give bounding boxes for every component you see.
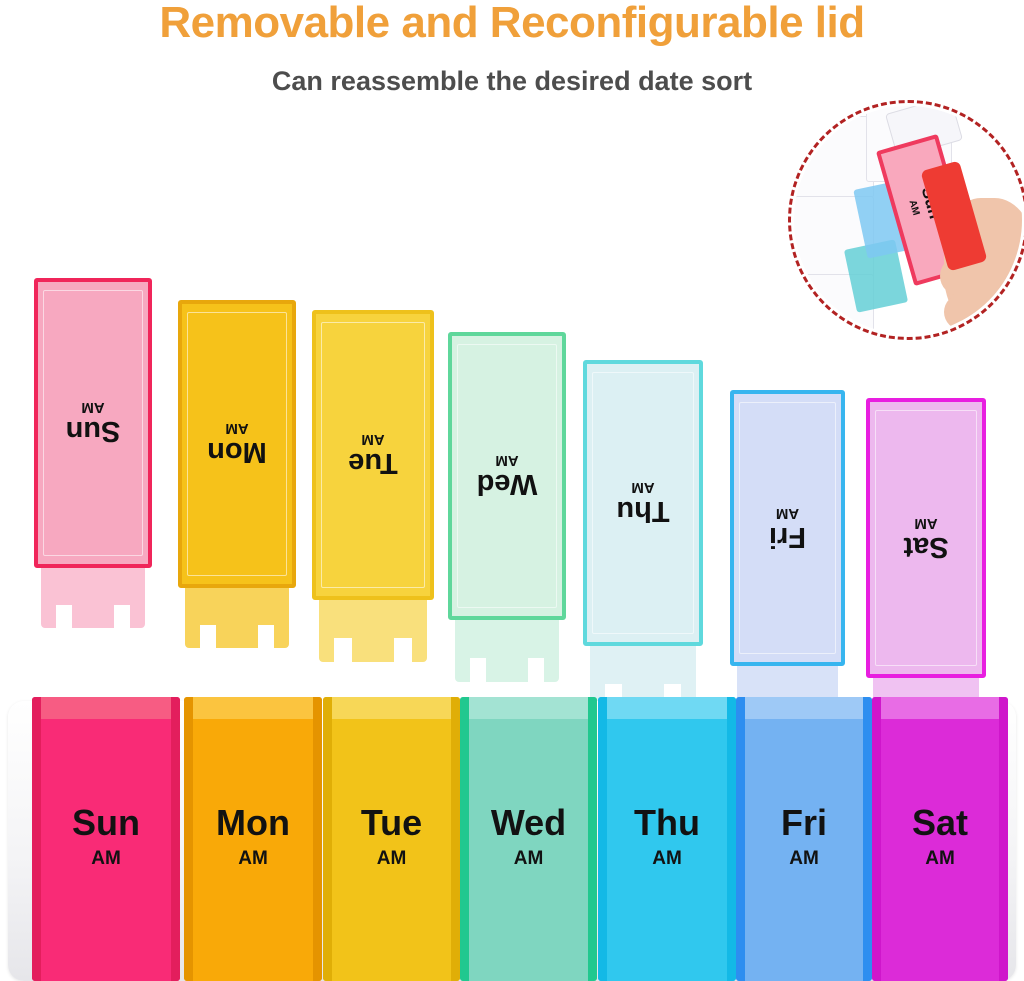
lid-label: SunAM	[34, 400, 152, 445]
cell-label: ThuAM	[598, 805, 736, 868]
cell-ampm-label: AM	[736, 849, 872, 868]
lid-foot	[319, 592, 426, 662]
cell-day-label: Mon	[184, 805, 322, 841]
lid-foot	[455, 612, 559, 682]
inset-dashed-ring	[788, 100, 1024, 340]
lid-notch	[394, 638, 411, 662]
lid-ampm-label: AM	[583, 480, 703, 495]
product-marketing-image: Removable and Reconfigurable lid Can rea…	[0, 0, 1024, 981]
cell-day-label: Sat	[872, 805, 1008, 841]
organizer-tray: SunAMMonAMTueAMWedAMThuAMFriAMSatAM	[8, 697, 1016, 981]
cell-label: TueAM	[323, 805, 460, 868]
cell-label: SatAM	[872, 805, 1008, 868]
lid-ampm-label: AM	[448, 453, 566, 468]
cell-ampm-label: AM	[460, 849, 597, 868]
removable-lid-tue[interactable]: TueAM	[312, 310, 434, 662]
lid-label: TueAM	[312, 432, 434, 477]
lid-day-label: Wed	[448, 469, 566, 498]
cell-ampm-label: AM	[184, 849, 322, 868]
lid-day-label: Fri	[730, 522, 845, 551]
cell-label: WedAM	[460, 805, 597, 868]
cell-rim	[184, 697, 322, 719]
lid-notch	[114, 605, 131, 628]
cell-rim	[736, 697, 872, 719]
removable-lid-wed[interactable]: WedAM	[448, 332, 566, 682]
inset-detail-photo: Sun AM	[788, 100, 1024, 340]
lid-notch	[334, 638, 351, 662]
cell-day-label: Fri	[736, 805, 872, 841]
lid-day-label: Tue	[312, 448, 434, 477]
tray-cell-tue[interactable]: TueAM	[323, 697, 460, 981]
lid-ampm-label: AM	[312, 432, 434, 447]
page-subtitle: Can reassemble the desired date sort	[0, 66, 1024, 97]
cell-label: SunAM	[32, 805, 180, 868]
lid-label: WedAM	[448, 453, 566, 498]
cell-ampm-label: AM	[32, 849, 180, 868]
cell-label: FriAM	[736, 805, 872, 868]
cell-rim	[323, 697, 460, 719]
cell-day-label: Wed	[460, 805, 597, 841]
cell-day-label: Tue	[323, 805, 460, 841]
lid-label: MonAM	[178, 421, 296, 466]
lid-foot	[41, 560, 145, 628]
cell-rim	[872, 697, 1008, 719]
lid-label: SatAM	[866, 516, 986, 561]
removable-lid-fri[interactable]: FriAM	[730, 390, 845, 726]
cell-ampm-label: AM	[598, 849, 736, 868]
lid-day-label: Mon	[178, 437, 296, 466]
tray-cell-thu[interactable]: ThuAM	[598, 697, 736, 981]
lid-notch	[528, 658, 545, 682]
tray-cell-sun[interactable]: SunAM	[32, 697, 180, 981]
lid-notch	[200, 625, 217, 648]
lid-notch	[56, 605, 73, 628]
cell-ampm-label: AM	[323, 849, 460, 868]
removable-lid-mon[interactable]: MonAM	[178, 300, 296, 648]
lid-foot	[185, 580, 289, 648]
lid-day-label: Thu	[583, 496, 703, 525]
removable-lid-sun[interactable]: SunAM	[34, 278, 152, 628]
lid-day-label: Sat	[866, 532, 986, 561]
cell-ampm-label: AM	[872, 849, 1008, 868]
tray-cell-mon[interactable]: MonAM	[184, 697, 322, 981]
lid-ampm-label: AM	[34, 400, 152, 415]
page-title: Removable and Reconfigurable lid	[0, 0, 1024, 48]
lid-notch	[470, 658, 487, 682]
lid-ampm-label: AM	[178, 421, 296, 436]
lid-ampm-label: AM	[866, 516, 986, 531]
lid-ampm-label: AM	[730, 506, 845, 521]
removable-lid-sat[interactable]: SatAM	[866, 398, 986, 736]
cell-rim	[598, 697, 736, 719]
cell-rim	[32, 697, 180, 719]
cell-label: MonAM	[184, 805, 322, 868]
cell-rim	[460, 697, 597, 719]
tray-cell-wed[interactable]: WedAM	[460, 697, 597, 981]
lid-notch	[258, 625, 275, 648]
removable-lid-thu[interactable]: ThuAM	[583, 360, 703, 708]
tray-cell-sat[interactable]: SatAM	[872, 697, 1008, 981]
lid-label: ThuAM	[583, 480, 703, 525]
lid-day-label: Sun	[34, 416, 152, 445]
lid-label: FriAM	[730, 506, 845, 551]
tray-cell-fri[interactable]: FriAM	[736, 697, 872, 981]
cell-day-label: Thu	[598, 805, 736, 841]
cell-day-label: Sun	[32, 805, 180, 841]
